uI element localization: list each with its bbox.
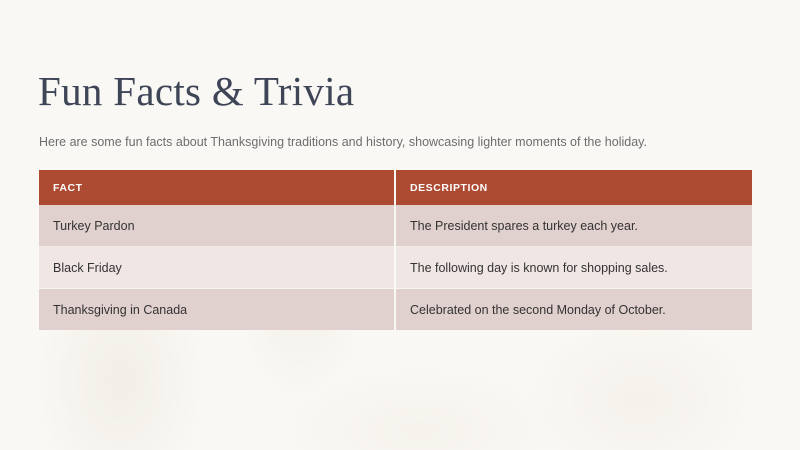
cell-fact: Turkey Pardon bbox=[39, 205, 395, 247]
slide-subtitle: Here are some fun facts about Thanksgivi… bbox=[39, 133, 651, 152]
column-header-description: DESCRIPTION bbox=[395, 170, 752, 205]
slide-canvas: Fun Facts & Trivia Here are some fun fac… bbox=[0, 0, 800, 450]
table-header: FACT DESCRIPTION bbox=[39, 170, 752, 205]
column-header-fact: FACT bbox=[39, 170, 395, 205]
table-row: Thanksgiving in Canada Celebrated on the… bbox=[39, 289, 752, 331]
fun-facts-table: FACT DESCRIPTION Turkey Pardon The Presi… bbox=[39, 170, 752, 330]
table-body: Turkey Pardon The President spares a tur… bbox=[39, 205, 752, 330]
cell-description: The following day is known for shopping … bbox=[395, 247, 752, 289]
cell-fact: Black Friday bbox=[39, 247, 395, 289]
page-title: Fun Facts & Trivia bbox=[38, 68, 354, 115]
table-row: Black Friday The following day is known … bbox=[39, 247, 752, 289]
cell-description: Celebrated on the second Monday of Octob… bbox=[395, 289, 752, 331]
table-header-row: FACT DESCRIPTION bbox=[39, 170, 752, 205]
cell-description: The President spares a turkey each year. bbox=[395, 205, 752, 247]
cell-fact: Thanksgiving in Canada bbox=[39, 289, 395, 331]
table-row: Turkey Pardon The President spares a tur… bbox=[39, 205, 752, 247]
